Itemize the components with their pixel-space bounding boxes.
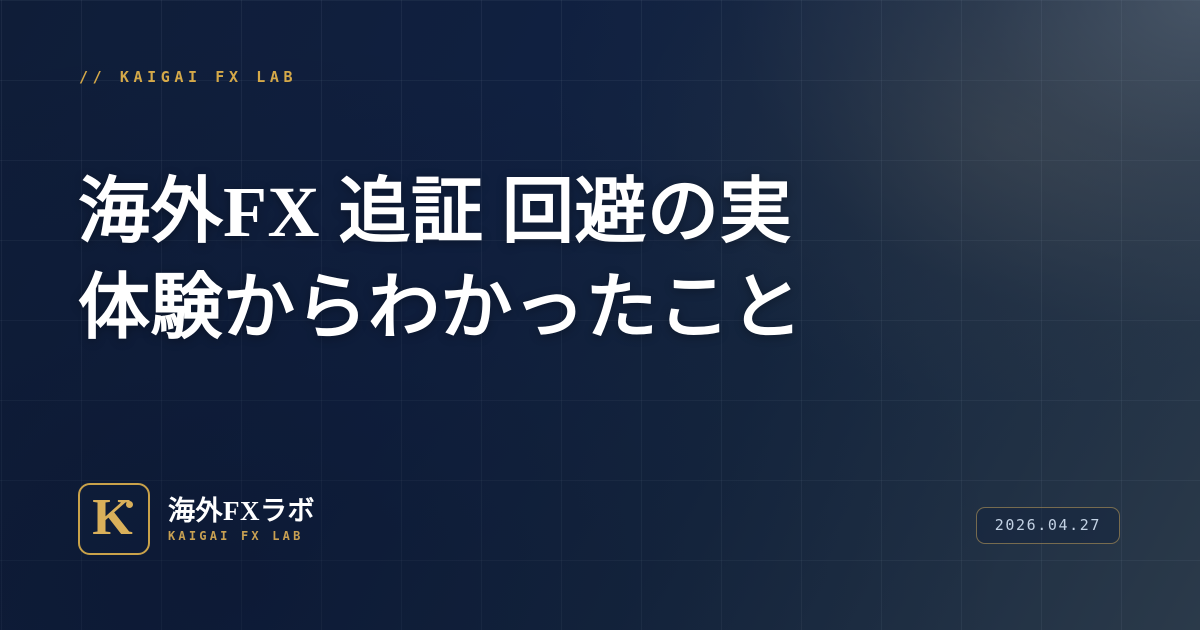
- brand-mark-letter: K: [92, 492, 132, 544]
- ogp-card: // KAIGAI FX LAB 海外FX 追証 回避の実 体験からわかったこと…: [0, 0, 1200, 630]
- k-monogram-icon: K: [78, 483, 150, 555]
- brand-name-en: KAIGAI FX LAB: [168, 529, 315, 543]
- date-badge: 2026.04.27: [976, 507, 1120, 544]
- brand-lockup: K 海外FXラボ KAIGAI FX LAB: [78, 483, 315, 555]
- brand-name-ja: 海外FXラボ: [168, 495, 315, 527]
- page-title: 海外FX 追証 回避の実 体験からわかったこと: [78, 164, 878, 356]
- eyebrow-label: // KAIGAI FX LAB: [79, 68, 297, 86]
- page-title-line-2: 体験からわかったこと: [78, 260, 878, 356]
- page-title-line-1: 海外FX 追証 回避の実: [78, 164, 878, 260]
- brand-text-block: 海外FXラボ KAIGAI FX LAB: [168, 495, 315, 543]
- brand-mark-dot-icon: [126, 501, 133, 508]
- card-content: // KAIGAI FX LAB 海外FX 追証 回避の実 体験からわかったこと…: [0, 0, 1200, 630]
